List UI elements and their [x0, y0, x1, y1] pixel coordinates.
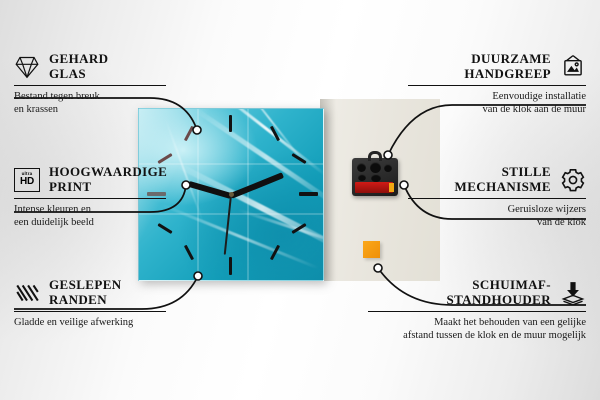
feature-description: Bestand tegen breuk en krassen [14, 91, 166, 116]
feature-divider [14, 85, 166, 86]
ultra-hd-icon-hd-text: HD [20, 177, 34, 187]
infographic-canvas: GEHARD GLAS Bestand tegen breuk en krass… [0, 0, 600, 400]
feature-stille-mechanisme: STILLE MECHANISME Geruisloze wijzers van… [408, 165, 586, 229]
feature-schuimafstandhouder: SCHUIMAF- STANDHOUDER Maakt het behouden… [368, 278, 586, 342]
feature-divider [14, 198, 166, 199]
feature-duurzame-handgreep: DUURZAME HANDGREEP Eenvoudige installati… [408, 52, 586, 116]
feature-title: GESLEPEN RANDEN [49, 278, 122, 307]
connector-dot-stille-mechanisme [400, 181, 408, 189]
feature-header: ultra HD HOOGWAARDIGE PRINT [14, 165, 166, 194]
feature-description: Intense kleuren en een duidelijk beeld [14, 204, 166, 229]
beveled-edges-icon [14, 280, 40, 306]
spacer-arrow-icon [560, 280, 586, 306]
feature-divider [408, 198, 586, 199]
feature-divider [14, 311, 166, 312]
diamond-icon [14, 54, 40, 80]
feature-description: Geruisloze wijzers van de klok [408, 204, 586, 229]
feature-header: GEHARD GLAS [14, 52, 166, 81]
feature-header: GESLEPEN RANDEN [14, 278, 166, 307]
feature-header: DUURZAME HANDGREEP [408, 52, 586, 81]
connector-dot-schuimafstandhouder [374, 264, 382, 272]
connector-dot-gehard-glas [193, 126, 201, 134]
connector-dot-geslepen-randen [194, 272, 202, 280]
feature-divider [408, 85, 586, 86]
gear-icon [560, 167, 586, 193]
feature-title: SCHUIMAF- STANDHOUDER [446, 278, 551, 307]
feature-title: DUURZAME HANDGREEP [464, 52, 551, 81]
wall-picture-icon [560, 54, 586, 80]
feature-description: Gladde en veilige afwerking [14, 317, 166, 330]
feature-title: GEHARD GLAS [49, 52, 108, 81]
feature-title: STILLE MECHANISME [455, 165, 551, 194]
feature-header: SCHUIMAF- STANDHOUDER [368, 278, 586, 307]
feature-description: Eenvoudige installatie van de klok aan d… [408, 91, 586, 116]
feature-geslepen-randen: GESLEPEN RANDEN Gladde en veilige afwerk… [14, 278, 166, 330]
feature-title: HOOGWAARDIGE PRINT [49, 165, 167, 194]
feature-hoogwaardige-print: ultra HD HOOGWAARDIGE PRINT Intense kleu… [14, 165, 166, 229]
connector-dot-hoogwaardige-print [182, 181, 190, 189]
feature-divider [368, 311, 586, 312]
feature-header: STILLE MECHANISME [408, 165, 586, 194]
connector-dot-duurzame-handgreep [384, 151, 392, 159]
feature-description: Maakt het behouden van een gelijke afsta… [368, 317, 586, 342]
ultra-hd-icon: ultra HD [14, 168, 40, 192]
feature-gehard-glas: GEHARD GLAS Bestand tegen breuk en krass… [14, 52, 166, 116]
